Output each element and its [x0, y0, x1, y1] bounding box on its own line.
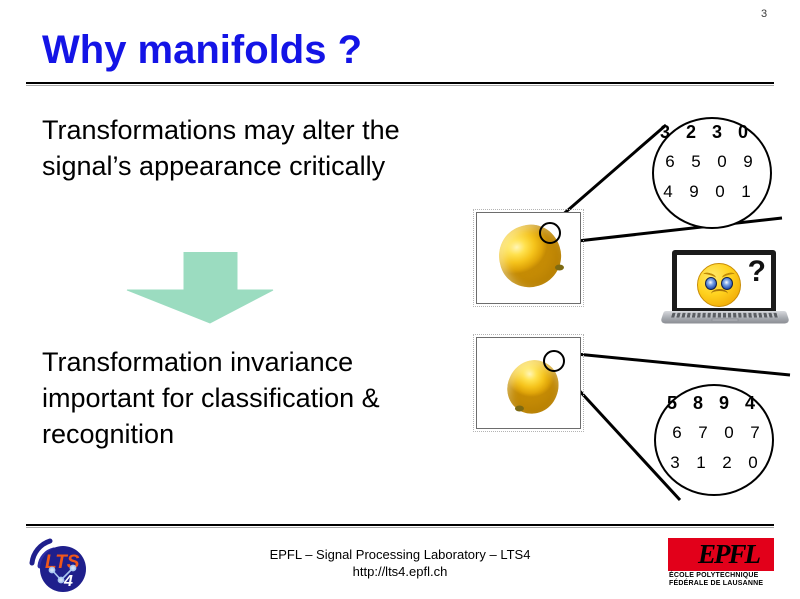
- matrix-cell: 2: [678, 117, 704, 147]
- question-mark-icon: ?: [748, 257, 766, 287]
- footer-line-1: EPFL – Signal Processing Laboratory – LT…: [200, 546, 600, 563]
- pixel-matrix-bottom: 5894 6707 3120: [659, 388, 768, 478]
- laptop-keyboard: [671, 313, 779, 318]
- zoom-region-circle-top: [539, 222, 561, 244]
- eye-left: [705, 277, 717, 290]
- footer-divider-thin: [26, 527, 774, 528]
- matrix-cell: 9: [681, 177, 707, 207]
- matrix-cell: 7: [742, 418, 768, 448]
- matrix-cell: 3: [662, 448, 688, 478]
- footer-divider: [26, 524, 774, 528]
- title-divider: [26, 82, 774, 86]
- matrix-cell: 8: [685, 388, 711, 418]
- laptop-trackpad: [711, 318, 738, 321]
- lemon-stem: [555, 264, 564, 270]
- lemon-stem: [515, 405, 524, 411]
- lemon-image-bottom: [477, 338, 580, 428]
- footer-divider-thick: [26, 524, 774, 526]
- matrix-cell: 4: [737, 388, 763, 418]
- matrix-row: 3120: [659, 448, 768, 478]
- image-frame-bottom: [476, 337, 581, 429]
- matrix-cell: 6: [664, 418, 690, 448]
- eye-right: [721, 277, 733, 290]
- matrix-row: 6707: [659, 418, 768, 448]
- epfl-subtitle-line-2: FÉDÉRALE DE LAUSANNE: [669, 580, 763, 588]
- footer-line-2[interactable]: http://lts4.epfl.ch: [200, 563, 600, 580]
- footer: EPFL – Signal Processing Laboratory – LT…: [200, 546, 600, 580]
- body-paragraph-2: Transformation invariance important for …: [42, 344, 472, 452]
- frown-mouth: [711, 289, 728, 299]
- matrix-cell: 5: [683, 147, 709, 177]
- matrix-cell: 2: [714, 448, 740, 478]
- pixel-matrix-top: 3230 6509 4901: [652, 117, 761, 207]
- matrix-cell: 0: [740, 448, 766, 478]
- matrix-cell: 3: [652, 117, 678, 147]
- epfl-subtitle-line-1: ÉCOLE POLYTECHNIQUE: [669, 572, 759, 580]
- image-frame-top: [476, 212, 581, 304]
- matrix-row: 3230: [652, 117, 761, 147]
- matrix-cell: 9: [735, 147, 761, 177]
- page-number: 3: [752, 8, 776, 20]
- laptop-lid: ?: [672, 250, 776, 312]
- lemon-image-top: [477, 213, 580, 303]
- matrix-cell: 5: [659, 388, 685, 418]
- matrix-row: 6509: [652, 147, 761, 177]
- laptop-illustration: ?: [664, 250, 792, 335]
- title-divider-thick: [26, 82, 774, 84]
- matrix-cell: 0: [709, 147, 735, 177]
- epfl-wordmark: EPFL: [698, 537, 759, 571]
- matrix-cell: 9: [711, 388, 737, 418]
- down-arrow-icon: [126, 252, 274, 324]
- matrix-cell: 1: [688, 448, 714, 478]
- matrix-row: 5894: [659, 388, 768, 418]
- lts4-logo: LTS 4: [28, 537, 94, 595]
- sad-face-icon: [697, 263, 741, 307]
- matrix-cell: 7: [690, 418, 716, 448]
- matrix-cell: 1: [733, 177, 759, 207]
- slide-canvas: 3 Why manifolds ? Transformations may al…: [0, 0, 800, 599]
- matrix-cell: 0: [707, 177, 733, 207]
- matrix-cell: 0: [730, 117, 756, 147]
- matrix-cell: 6: [657, 147, 683, 177]
- matrix-row: 4901: [652, 177, 761, 207]
- matrix-cell: 3: [704, 117, 730, 147]
- title-divider-thin: [26, 85, 774, 86]
- matrix-cell: 0: [716, 418, 742, 448]
- laptop-base: [660, 311, 790, 323]
- epfl-logo: EPFL ÉCOLE POLYTECHNIQUE FÉDÉRALE DE LAU…: [668, 538, 774, 588]
- laptop-screen: ?: [677, 255, 771, 308]
- body-paragraph-1: Transformations may alter the signal’s a…: [42, 112, 462, 184]
- zoom-region-circle-bottom: [543, 350, 565, 372]
- page-title: Why manifolds ?: [42, 28, 362, 73]
- matrix-cell: 4: [655, 177, 681, 207]
